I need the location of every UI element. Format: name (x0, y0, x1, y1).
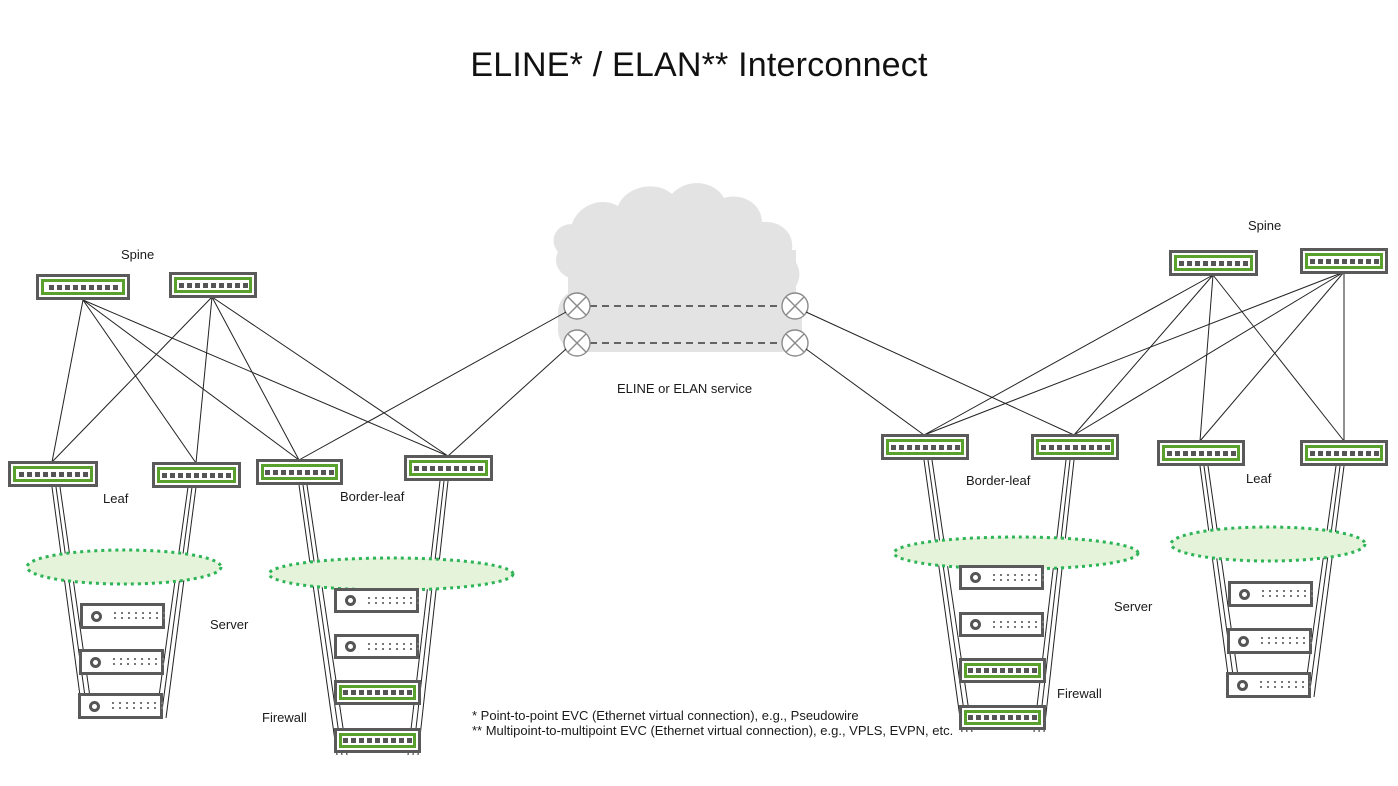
right-stack1-downlinks (924, 460, 1074, 732)
page-title: ELINE* / ELAN** Interconnect (0, 46, 1398, 85)
switch-ports (964, 663, 1041, 678)
border-leaf-l2[interactable] (404, 455, 493, 481)
power-led-icon (345, 641, 356, 652)
label-leaf-left: Leaf (103, 491, 128, 506)
server-r2-1[interactable] (1228, 581, 1313, 607)
power-led-icon (345, 595, 356, 606)
pe-node-left-bottom[interactable] (564, 330, 590, 356)
label-server-left: Server (210, 617, 248, 632)
label-server-right: Server (1114, 599, 1152, 614)
switch-ports (964, 710, 1041, 725)
switch-ports (157, 467, 236, 483)
power-led-icon (1238, 636, 1249, 647)
server-l1-2[interactable] (79, 649, 164, 675)
label-spine-left: Spine (121, 247, 154, 262)
label-leaf-right: Leaf (1246, 471, 1271, 486)
right-borderleaf-cloud-links (806, 312, 1074, 435)
server-vents-icon (114, 612, 167, 620)
pe-node-right-bottom[interactable] (782, 330, 808, 356)
switch-ports (339, 685, 416, 700)
switch-ports (1036, 439, 1114, 455)
server-l2-2[interactable] (334, 634, 419, 659)
power-led-icon (970, 619, 981, 630)
server-vents-icon (993, 574, 1046, 582)
l2-domain-ellipse-left-2 (269, 558, 513, 590)
switch-ports (261, 464, 338, 480)
leaf-r1[interactable] (1157, 440, 1245, 466)
right-spine-leaf-links (924, 272, 1344, 441)
power-led-icon (91, 611, 102, 622)
server-l2-1[interactable] (334, 588, 419, 613)
server-vents-icon (1260, 681, 1313, 689)
service-cloud (554, 183, 802, 352)
l2-domain-ellipse-left-1 (27, 550, 221, 584)
switch-ports (13, 466, 93, 482)
switch-ports (339, 733, 416, 748)
footnote-2: ** Multipoint-to-multipoint EVC (Etherne… (472, 721, 953, 740)
server-vents-icon (1262, 590, 1315, 598)
firewall-l2-2[interactable] (334, 728, 421, 753)
label-firewall-right: Firewall (1057, 686, 1102, 701)
spine-l1[interactable] (36, 274, 130, 300)
power-led-icon (89, 701, 100, 712)
diagram-canvas: ELINE* / ELAN** Interconnect (0, 0, 1398, 786)
switch-ports (174, 277, 252, 293)
server-l1-3[interactable] (78, 693, 163, 719)
server-vents-icon (112, 702, 165, 710)
firewall-r1-1[interactable] (959, 658, 1046, 683)
firewall-r1-2[interactable] (959, 705, 1046, 730)
left-spine-leaf-links (52, 297, 448, 463)
server-r2-2[interactable] (1227, 628, 1312, 654)
left-stack2-downlinks (299, 481, 448, 755)
switch-ports (1305, 253, 1383, 269)
power-led-icon (970, 572, 981, 583)
switch-ports (409, 460, 488, 476)
power-led-icon (1237, 680, 1248, 691)
switch-ports (1174, 255, 1253, 271)
switch-ports (886, 439, 964, 455)
label-firewall-left: Firewall (262, 710, 307, 725)
switch-ports (1305, 445, 1383, 461)
server-vents-icon (368, 643, 421, 651)
label-border-leaf-right: Border-leaf (966, 473, 1030, 488)
label-border-leaf-left: Border-leaf (340, 489, 404, 504)
power-led-icon (90, 657, 101, 668)
power-led-icon (1239, 589, 1250, 600)
server-vents-icon (1261, 637, 1314, 645)
leaf-l1[interactable] (8, 461, 98, 487)
label-cloud-service: ELINE or ELAN service (617, 381, 752, 396)
label-spine-right: Spine (1248, 218, 1281, 233)
server-l1-1[interactable] (80, 603, 165, 629)
border-leaf-l1[interactable] (256, 459, 343, 485)
pe-node-right-top[interactable] (782, 293, 808, 319)
server-r1-1[interactable] (959, 565, 1044, 590)
l2-domain-ellipse-right-2 (1171, 527, 1365, 561)
spine-l2[interactable] (169, 272, 257, 298)
spine-r2[interactable] (1300, 248, 1388, 274)
server-vents-icon (368, 597, 421, 605)
server-r2-3[interactable] (1226, 672, 1311, 698)
left-borderleaf-cloud-links (299, 312, 566, 460)
border-leaf-r2[interactable] (1031, 434, 1119, 460)
spine-r1[interactable] (1169, 250, 1258, 276)
switch-ports (1162, 445, 1240, 461)
server-r1-2[interactable] (959, 612, 1044, 637)
firewall-l2-1[interactable] (334, 680, 421, 705)
pe-node-left-top[interactable] (564, 293, 590, 319)
server-vents-icon (993, 621, 1046, 629)
server-vents-icon (113, 658, 166, 666)
border-leaf-r1[interactable] (881, 434, 969, 460)
leaf-l2[interactable] (152, 462, 241, 488)
switch-ports (41, 279, 125, 295)
leaf-r2[interactable] (1300, 440, 1388, 466)
